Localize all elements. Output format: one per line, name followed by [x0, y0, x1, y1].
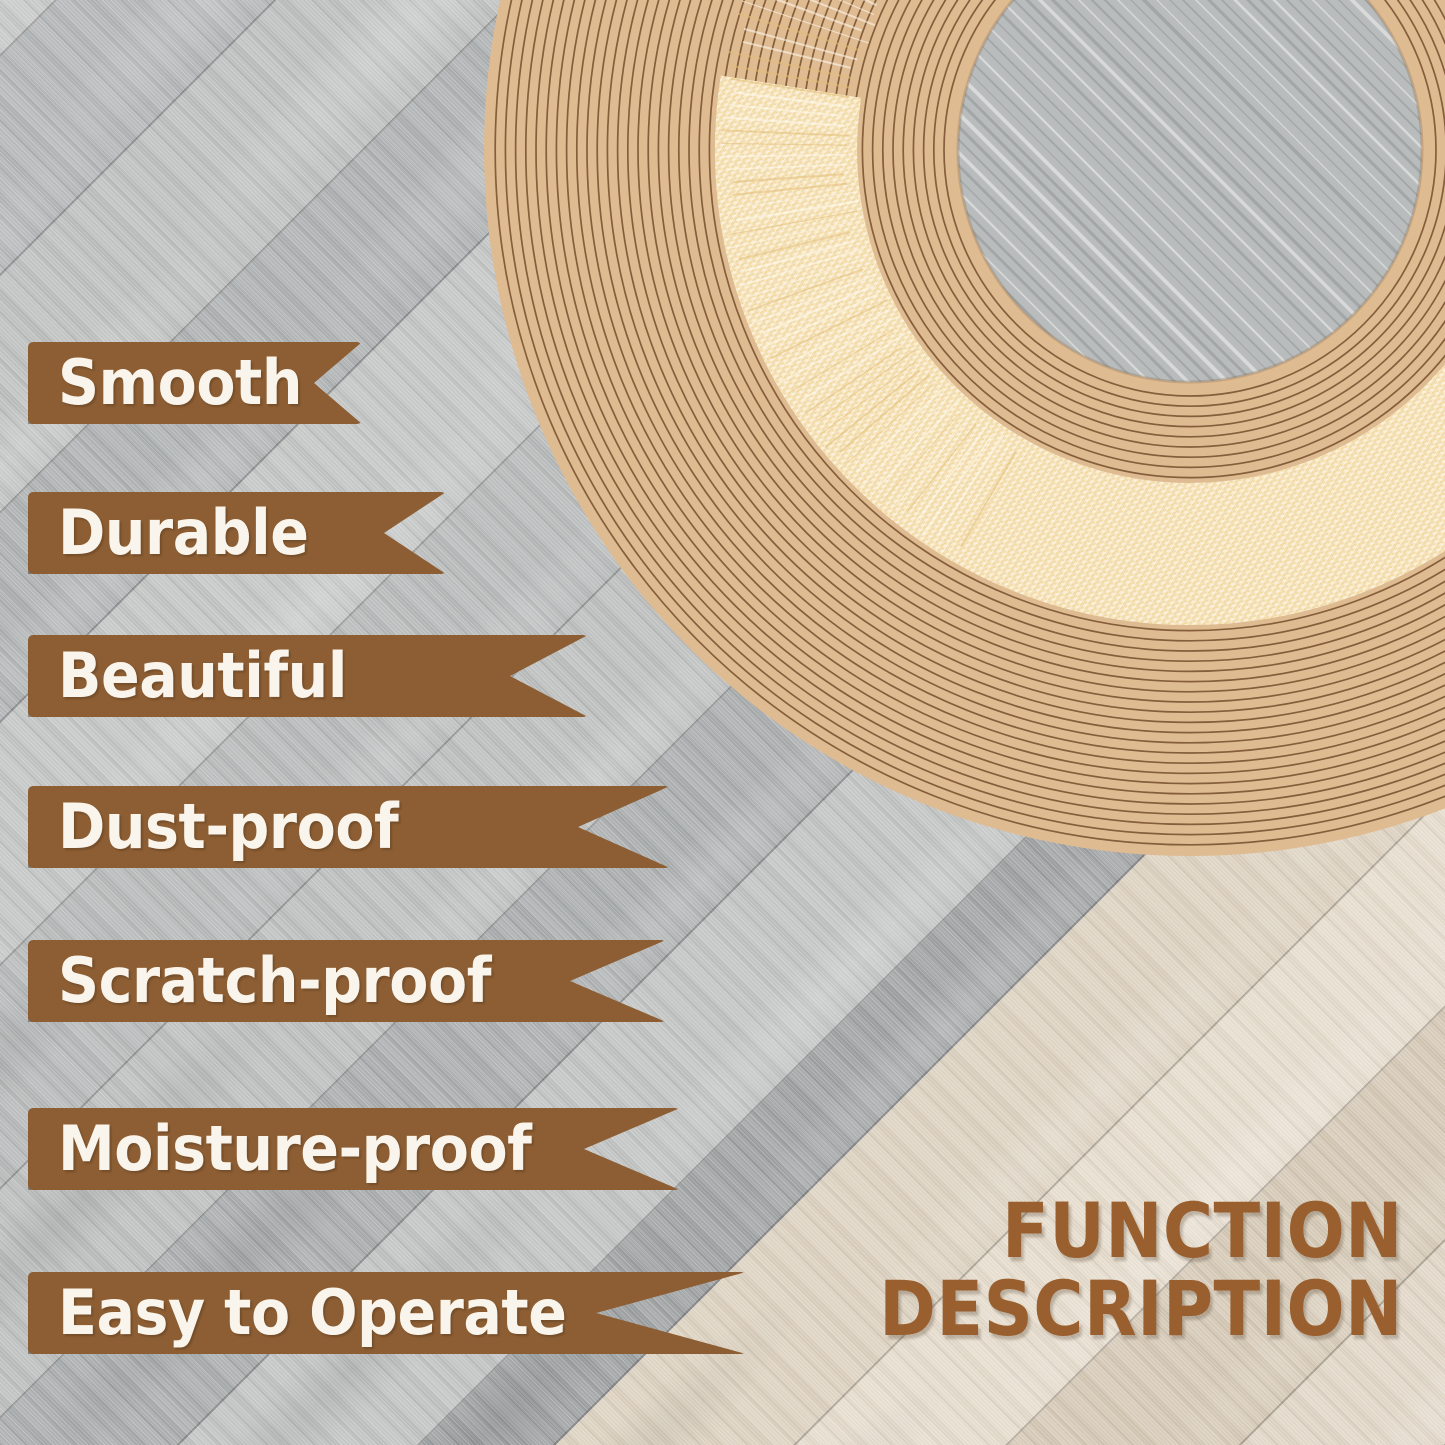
- feature-banner-label: Dust-proof: [58, 796, 398, 858]
- feature-banner-beautiful: Beautiful: [28, 635, 588, 717]
- feature-banner-label: Durable: [58, 502, 308, 564]
- infographic-canvas: SmoothDurableBeautifulDust-proofScratch-…: [0, 0, 1445, 1445]
- feature-banner-smooth: Smooth: [28, 342, 362, 424]
- heading-line-1: FUNCTION: [879, 1192, 1403, 1270]
- feature-banner-label: Beautiful: [58, 645, 347, 707]
- feature-banner-label: Moisture-proof: [58, 1118, 532, 1180]
- function-description-heading: FUNCTION DESCRIPTION: [821, 1192, 1403, 1349]
- feature-banner-label: Scratch-proof: [58, 950, 491, 1012]
- feature-banner-label: Smooth: [58, 352, 302, 414]
- feature-banner-dust-proof: Dust-proof: [28, 786, 670, 868]
- feature-banner-label: Easy to Operate: [58, 1282, 566, 1344]
- feature-banner-moisture-proof: Moisture-proof: [28, 1108, 680, 1190]
- heading-line-2: DESCRIPTION: [879, 1270, 1403, 1348]
- feature-banner-durable: Durable: [28, 492, 446, 574]
